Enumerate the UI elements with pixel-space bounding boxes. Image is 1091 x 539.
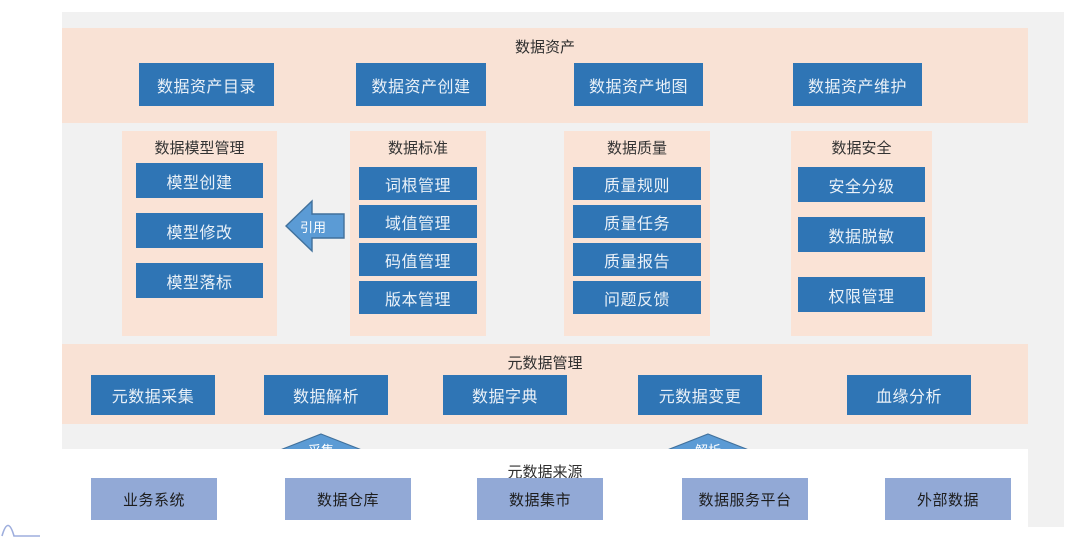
- button-metadata-collection[interactable]: 元数据采集: [91, 375, 215, 415]
- button-data-asset-catalog[interactable]: 数据资产目录: [139, 63, 274, 106]
- button-code-value-management[interactable]: 码值管理: [359, 243, 477, 276]
- button-data-masking[interactable]: 数据脱敏: [798, 217, 925, 252]
- button-domain-value-management[interactable]: 域值管理: [359, 205, 477, 238]
- group-data-standard-title: 数据标准: [350, 137, 486, 158]
- button-metadata-change[interactable]: 元数据变更: [638, 375, 762, 415]
- button-model-create[interactable]: 模型创建: [136, 163, 263, 198]
- curve-icon: [0, 512, 40, 538]
- button-word-root-management[interactable]: 词根管理: [359, 167, 477, 200]
- button-data-service-platform[interactable]: 数据服务平台: [682, 478, 808, 520]
- button-data-asset-maintain[interactable]: 数据资产维护: [793, 63, 922, 106]
- reference-arrow-label: 引用: [290, 217, 336, 236]
- button-data-mart[interactable]: 数据集市: [477, 478, 603, 520]
- button-business-system[interactable]: 业务系统: [91, 478, 217, 520]
- button-data-parsing[interactable]: 数据解析: [264, 375, 388, 415]
- group-data-model-management-title: 数据模型管理: [122, 137, 277, 158]
- button-security-classification[interactable]: 安全分级: [798, 167, 925, 202]
- band-data-assets-title: 数据资产: [62, 36, 1028, 57]
- button-model-label[interactable]: 模型落标: [136, 263, 263, 298]
- group-data-quality-title: 数据质量: [564, 137, 710, 158]
- stray-curve-artifact: [0, 512, 40, 538]
- button-data-asset-create[interactable]: 数据资产创建: [356, 63, 486, 106]
- group-data-security-title: 数据安全: [791, 137, 932, 158]
- button-quality-rule[interactable]: 质量规则: [573, 167, 701, 200]
- button-data-asset-map[interactable]: 数据资产地图: [574, 63, 703, 106]
- button-data-dictionary[interactable]: 数据字典: [443, 375, 567, 415]
- reference-arrow: 引用: [284, 195, 346, 257]
- button-model-modify[interactable]: 模型修改: [136, 213, 263, 248]
- button-quality-report[interactable]: 质量报告: [573, 243, 701, 276]
- band-metadata-management-title: 元数据管理: [62, 352, 1028, 373]
- button-lineage-analysis[interactable]: 血缘分析: [847, 375, 971, 415]
- button-external-data[interactable]: 外部数据: [885, 478, 1011, 520]
- button-data-warehouse[interactable]: 数据仓库: [285, 478, 411, 520]
- button-issue-feedback[interactable]: 问题反馈: [573, 281, 701, 314]
- button-version-management[interactable]: 版本管理: [359, 281, 477, 314]
- button-quality-task[interactable]: 质量任务: [573, 205, 701, 238]
- diagram-canvas: 数据资产 数据资产目录 数据资产创建 数据资产地图 数据资产维护 数据模型管理 …: [62, 12, 1064, 527]
- button-permission-management[interactable]: 权限管理: [798, 277, 925, 312]
